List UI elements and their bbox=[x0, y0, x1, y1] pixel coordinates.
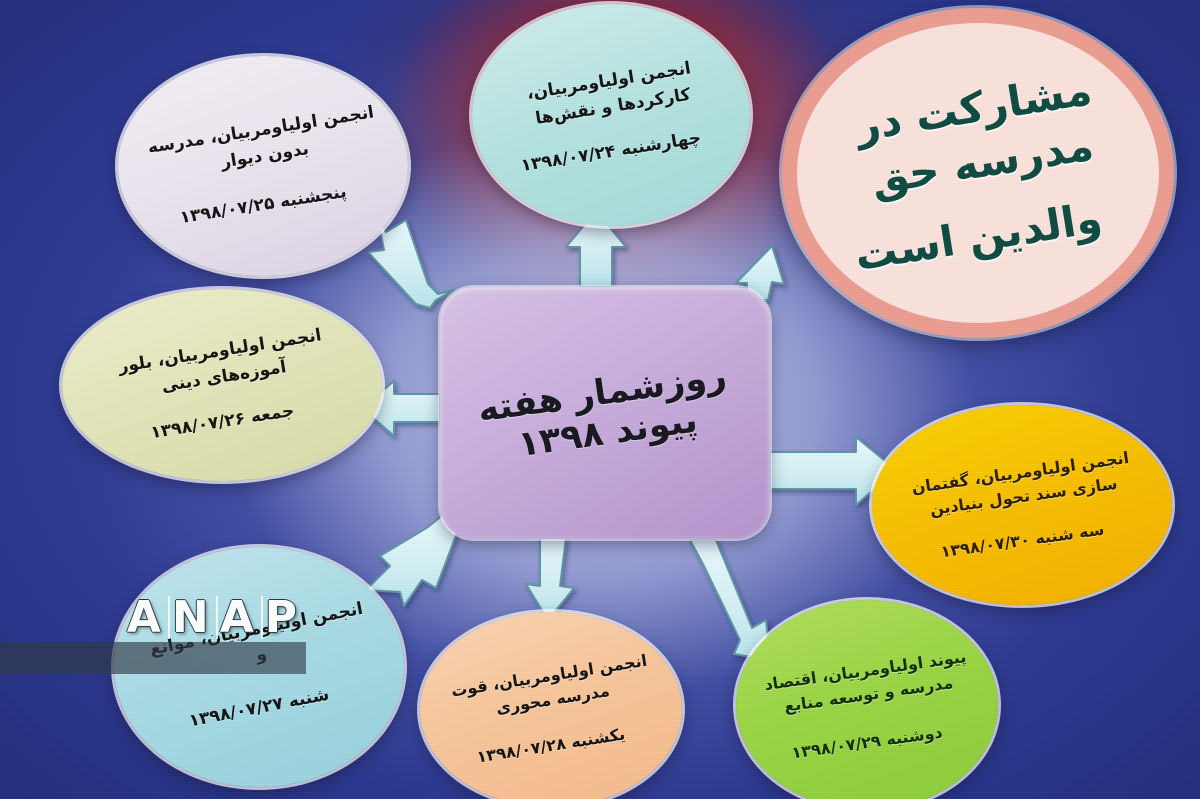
arrow-to-monday bbox=[690, 540, 770, 660]
node-date: دوشنبه ۱۳۹۸/۰۷/۲۹ bbox=[790, 722, 943, 762]
node-title: انجمن اولیاومربیان، بلور آموزه‌های دینی bbox=[60, 314, 384, 414]
watermark-bar: morteza maghsodi bbox=[0, 642, 306, 674]
pana-letter-a2: A bbox=[125, 596, 164, 639]
arrow-to-thursday bbox=[368, 219, 454, 308]
watermark-author: morteza maghsodi bbox=[0, 645, 298, 669]
node-date: چهارشنبه ۱۳۹۸/۰۷/۲۴ bbox=[520, 127, 703, 175]
node-title: انجمن اولیاومربیان، قوت مدرسه محوری bbox=[418, 644, 684, 732]
node-title: پیوند اولیاومربیان، اقتصاد مدرسه و توسعه… bbox=[734, 641, 1000, 725]
node-monday: پیوند اولیاومربیان، اقتصاد مدرسه و توسعه… bbox=[736, 600, 998, 799]
node-friday: انجمن اولیاومربیان، بلور آموزه‌های دینی … bbox=[62, 289, 382, 481]
node-date: سه شنبه ۱۳۹۸/۰۷/۳۰ bbox=[939, 519, 1105, 561]
infographic-poster: مشارکت در مدرسه حق والدین است روزشمار هف… bbox=[0, 0, 1200, 799]
headline-line-1: مشارکت در مدرسه حق bbox=[791, 53, 1166, 217]
headline-circle: مشارکت در مدرسه حق والدین است bbox=[782, 8, 1174, 338]
node-tuesday: انجمن اولیاومربیان، گفتمان سازی سند تحول… bbox=[872, 405, 1172, 605]
node-date: شنبه ۱۳۹۸/۰۷/۲۷ bbox=[187, 684, 330, 731]
headline-line-2: والدین است bbox=[851, 191, 1105, 284]
pana-letter-a1: A bbox=[216, 596, 257, 639]
node-title: انجمن اولیاومربیان، کارکردها و نقش‌ها bbox=[470, 47, 753, 141]
central-hub: روزشمار هفته پیوند ۱۳۹۸ bbox=[440, 287, 770, 539]
node-title: انجمن اولیاومربیان، مدرسه بدون دیوار bbox=[116, 95, 410, 191]
pana-letter-p: P bbox=[261, 596, 300, 639]
pana-letter-n: N bbox=[168, 596, 212, 639]
node-title: انجمن اولیاومربیان، گفتمان سازی سند تحول… bbox=[870, 440, 1174, 529]
node-date: یکشنبه ۱۳۹۸/۰۷/۲۸ bbox=[476, 724, 627, 766]
node-sunday: انجمن اولیاومربیان، قوت مدرسه محوری یکشن… bbox=[420, 612, 682, 799]
pana-logo: P A N A bbox=[100, 596, 306, 639]
arrow-to-sunday bbox=[526, 538, 574, 620]
hub-label: روزشمار هفته پیوند ۱۳۹۸ bbox=[436, 350, 774, 475]
node-date: جمعه ۱۳۹۸/۰۷/۲۶ bbox=[149, 400, 295, 442]
pana-watermark: P A N A morteza maghsodi bbox=[100, 596, 306, 674]
node-wednesday: انجمن اولیاومربیان، کارکردها و نقش‌ها چه… bbox=[472, 4, 750, 226]
node-date: پنجشنبه ۱۳۹۸/۰۷/۲۵ bbox=[178, 181, 347, 227]
node-thursday: انجمن اولیاومربیان، مدرسه بدون دیوار پنج… bbox=[118, 56, 408, 276]
